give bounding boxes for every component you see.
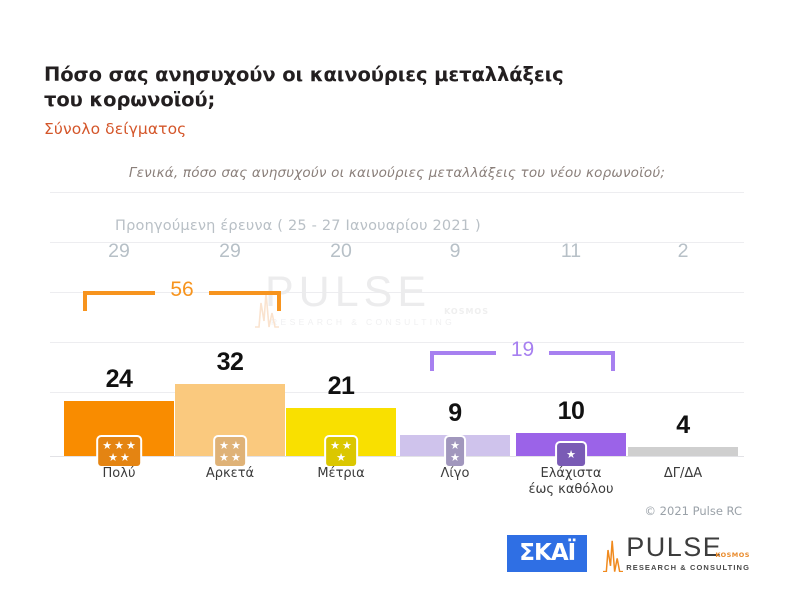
page-subtitle: Σύνολο δείγματος [44,120,186,138]
star-row: ★ [450,452,460,463]
gridline [50,192,744,193]
bar-value: 9 [400,399,510,428]
star-row: ★★ [330,440,352,451]
bar-column-elaxista[interactable]: 10 ★ [516,256,626,456]
category-label: ΔΓ/ΔΑ [628,466,738,482]
poll-chart-slide: Πόσο σας ανησυχούν οι καινούριες μεταλλά… [0,0,794,591]
bar-column-ligo[interactable]: 9 ★ ★ [400,256,510,456]
copyright-text: © 2021 Pulse RC [645,504,742,518]
bar-value: 10 [516,397,626,426]
category-label: Πολύ [64,466,174,482]
axis-baseline [50,456,744,457]
star-row: ★ [450,440,460,451]
chart-plot-area: Γενικά, πόσο σας ανησυχούν οι καινούριες… [50,152,744,457]
skai-logo: ΣΚΑΪ [507,535,587,572]
category-axis: Πολύ Αρκετά Μέτρια Λίγο Ελάχιστα έως καθ… [50,466,744,508]
pulse-logo-kosmos: KOSMOS [715,551,750,559]
star-badge-4: ★★ ★★ [213,435,247,468]
star-badge-3: ★★ ★ [324,435,358,468]
pulse-logo-sub: RESEARCH & CONSULTING [626,563,750,572]
star-row: ★★★ [102,440,136,451]
category-label: Λίγο [400,466,510,482]
page-title: Πόσο σας ανησυχούν οι καινούριες μεταλλά… [44,62,564,112]
pulse-wave-icon [603,538,623,572]
bar-column-dgda[interactable]: 4 [628,256,738,456]
category-label: Αρκετά [175,466,285,482]
star-row: ★ [566,449,576,460]
star-row: ★ [336,452,346,463]
star-row: ★★ [108,452,130,463]
bar-value: 24 [64,365,174,394]
previous-survey-label: Προηγούμενη έρευνα ( 25 - 27 Ιανουαρίου … [50,218,744,234]
bar-column-arketa[interactable]: 32 ★★ ★★ [175,256,285,456]
bar-column-poly[interactable]: 24 ★★★ ★★ [64,256,174,456]
star-row: ★★ [219,452,241,463]
bar-group: 24 ★★★ ★★ 32 ★★ ★★ 21 [50,256,744,456]
pulse-logo: PULSE RESEARCH & CONSULTING KOSMOS [603,534,750,572]
star-badge-2: ★ ★ [444,435,466,468]
category-label: Ελάχιστα έως καθόλου [516,466,626,498]
chart-question: Γενικά, πόσο σας ανησυχούν οι καινούριες… [50,165,744,181]
bar-rect[interactable] [628,447,738,456]
category-label: Μέτρια [286,466,396,482]
bar-column-metria[interactable]: 21 ★★ ★ [286,256,396,456]
bar-value: 32 [175,348,285,377]
bar-value: 21 [286,372,396,401]
bar-value: 4 [628,411,738,440]
star-badge-5: ★★★ ★★ [96,435,142,468]
logo-bar: ΣΚΑΪ PULSE RESEARCH & CONSULTING KOSMOS [507,534,750,572]
star-badge-1: ★ [555,441,587,468]
star-row: ★★ [219,440,241,451]
